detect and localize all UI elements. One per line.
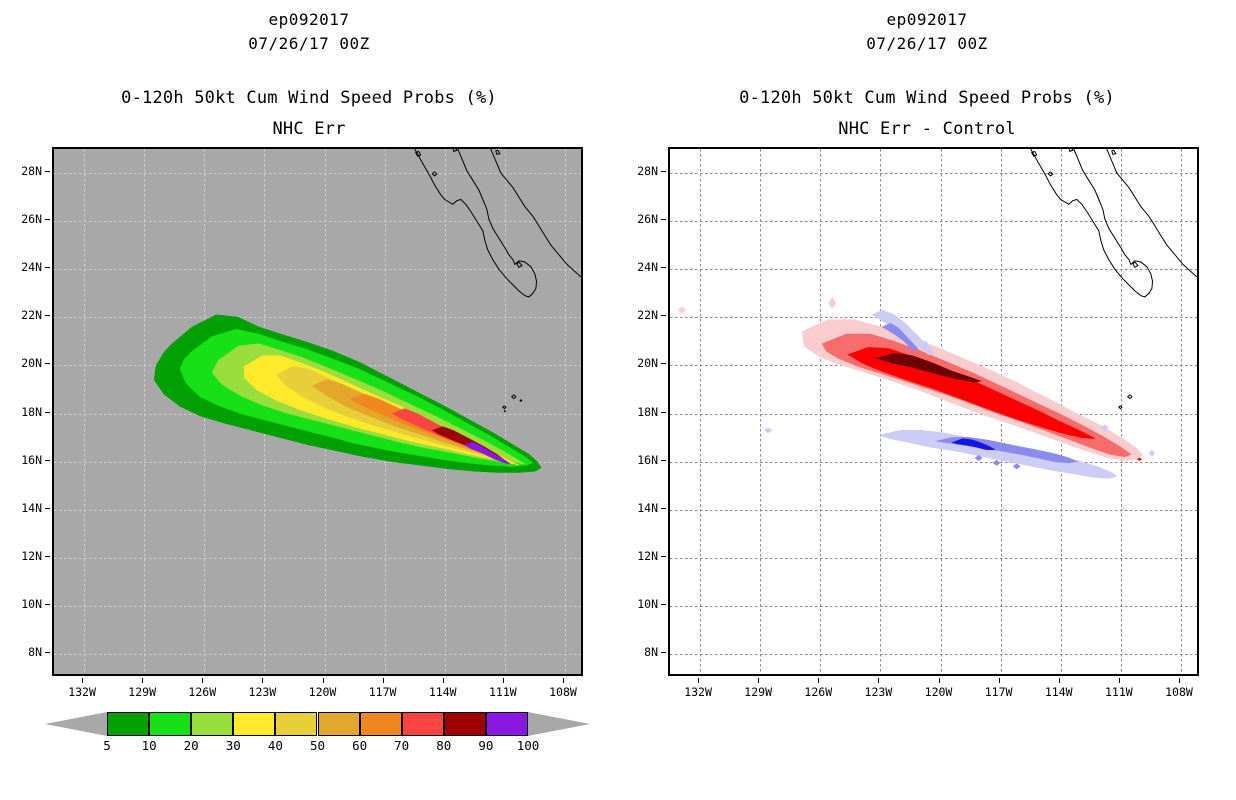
y-tick (45, 363, 50, 364)
x-tick (563, 678, 564, 683)
y-axis-label: 10N (10, 597, 42, 611)
coastline (1112, 150, 1116, 154)
y-axis-label: 8N (10, 645, 42, 659)
y-tick (661, 363, 666, 364)
colorbar-tick-label: 100 (517, 738, 540, 753)
coastline (512, 395, 516, 399)
x-tick (939, 678, 940, 683)
x-axis-label: 111W (1105, 685, 1133, 699)
coastline (1069, 149, 1073, 151)
left-valid-time: 07/26/17 00Z (0, 34, 618, 53)
colorbar-segment (191, 712, 233, 736)
y-axis-label: 28N (626, 164, 658, 178)
colorbar-segment (318, 712, 360, 736)
panel-nhc-err: ep092017 07/26/17 00Z 0-120h 50kt Cum Wi… (0, 0, 618, 800)
colorbar-segment (107, 712, 149, 736)
panel-nhc-err-minus-control: ep092017 07/26/17 00Z 0-120h 50kt Cum Wi… (618, 0, 1236, 800)
y-axis-label: 26N (626, 212, 658, 226)
y-tick (45, 267, 50, 268)
y-axis-label: 18N (10, 405, 42, 419)
coastline (382, 149, 536, 297)
colorbar-tick-label: 70 (394, 738, 409, 753)
coastline (1032, 151, 1037, 156)
x-axis-label: 114W (429, 685, 457, 699)
y-tick (661, 219, 666, 220)
colorbar-over-arrow (528, 712, 590, 736)
x-tick (698, 678, 699, 683)
coastline (496, 150, 500, 154)
colorbar-segment (360, 712, 402, 736)
y-axis-label: 28N (10, 164, 42, 178)
y-axis-label: 20N (10, 356, 42, 370)
x-axis-label: 111W (489, 685, 517, 699)
colorbar-tick-label: 80 (436, 738, 451, 753)
x-axis-label: 132W (684, 685, 712, 699)
x-axis-label: 117W (985, 685, 1013, 699)
coastline (1043, 149, 1199, 327)
y-tick (45, 412, 50, 413)
right-storm-id: ep092017 (618, 10, 1236, 29)
x-tick (443, 678, 444, 683)
y-axis-label: 26N (10, 212, 42, 226)
y-tick (45, 315, 50, 316)
left-chart-subtitle: NHC Err (0, 119, 618, 139)
x-tick (202, 678, 203, 683)
map-frame-right (668, 147, 1199, 676)
y-tick (661, 267, 666, 268)
x-axis-label: 126W (804, 685, 832, 699)
colorbar-tick-label: 10 (142, 738, 157, 753)
coastline (453, 149, 457, 151)
y-tick (661, 652, 666, 653)
x-tick (1059, 678, 1060, 683)
y-axis-label: 18N (626, 405, 658, 419)
x-tick (383, 678, 384, 683)
right-valid-time: 07/26/17 00Z (618, 34, 1236, 53)
y-axis-label: 22N (10, 308, 42, 322)
colorbar-segment (486, 712, 528, 736)
y-axis-label: 14N (10, 501, 42, 515)
x-tick (878, 678, 879, 683)
colorbar-under-arrow (45, 712, 107, 736)
x-axis-label: 123W (249, 685, 277, 699)
y-tick (45, 556, 50, 557)
map-left[interactable]: 132W129W126W123W120W117W114W111W108W28N2… (52, 147, 583, 676)
y-tick (45, 171, 50, 172)
y-axis-label: 24N (10, 260, 42, 274)
right-chart-subtitle: NHC Err - Control (618, 119, 1236, 139)
coastline (416, 151, 421, 156)
y-tick (45, 652, 50, 653)
x-tick (503, 678, 504, 683)
colorbar-segment (275, 712, 317, 736)
x-tick (262, 678, 263, 683)
y-tick (661, 412, 666, 413)
coastline (432, 172, 436, 176)
left-storm-id: ep092017 (0, 10, 618, 29)
map-right[interactable]: 132W129W126W123W120W117W114W111W108W28N2… (668, 147, 1199, 676)
x-tick (758, 678, 759, 683)
y-axis-label: 20N (626, 356, 658, 370)
y-tick (661, 508, 666, 509)
x-tick (818, 678, 819, 683)
x-tick (82, 678, 83, 683)
colorbar-segment (444, 712, 486, 736)
x-axis-label: 126W (188, 685, 216, 699)
colorbar-segment (402, 712, 444, 736)
coastline (503, 406, 506, 409)
coastline (998, 149, 1152, 297)
colorbar-tick-label: 90 (478, 738, 493, 753)
colorbar-segment (233, 712, 275, 736)
map-frame-left (52, 147, 583, 676)
colorbar-probability: 5102030405060708090100 (45, 712, 590, 766)
colorbar-tick-label: 30 (226, 738, 241, 753)
coastline (1133, 262, 1138, 267)
y-tick (45, 219, 50, 220)
y-axis-label: 12N (626, 549, 658, 563)
coastline (1048, 172, 1052, 176)
x-axis-label: 114W (1045, 685, 1073, 699)
x-axis-label: 120W (925, 685, 953, 699)
y-axis-label: 10N (626, 597, 658, 611)
right-chart-title: 0-120h 50kt Cum Wind Speed Probs (%) (618, 88, 1236, 108)
y-axis-label: 24N (626, 260, 658, 274)
coastline-layer (670, 149, 1199, 676)
y-axis-label: 8N (626, 645, 658, 659)
x-axis-label: 123W (865, 685, 893, 699)
y-axis-label: 22N (626, 308, 658, 322)
y-axis-label: 12N (10, 549, 42, 563)
colorbar-tick-label: 5 (103, 738, 111, 753)
x-axis-label: 108W (549, 685, 577, 699)
x-tick (142, 678, 143, 683)
coastline (517, 262, 522, 267)
x-tick (323, 678, 324, 683)
x-tick (1179, 678, 1180, 683)
colorbar-tick-label: 60 (352, 738, 367, 753)
y-axis-label: 16N (10, 453, 42, 467)
y-tick (45, 508, 50, 509)
x-tick (999, 678, 1000, 683)
left-chart-title: 0-120h 50kt Cum Wind Speed Probs (%) (0, 88, 618, 108)
x-axis-label: 120W (309, 685, 337, 699)
x-axis-label: 129W (128, 685, 156, 699)
x-axis-label: 132W (68, 685, 96, 699)
coastline (1119, 406, 1122, 409)
x-tick (1119, 678, 1120, 683)
colorbar-tick-label: 50 (310, 738, 325, 753)
y-tick (661, 604, 666, 605)
colorbar-tick-label: 40 (268, 738, 283, 753)
x-axis-label: 108W (1165, 685, 1193, 699)
y-tick (45, 460, 50, 461)
x-axis-label: 129W (744, 685, 772, 699)
colorbar-tick-label: 20 (184, 738, 199, 753)
x-axis-label: 117W (369, 685, 397, 699)
y-tick (45, 604, 50, 605)
y-tick (661, 556, 666, 557)
y-axis-label: 16N (626, 453, 658, 467)
y-tick (661, 315, 666, 316)
y-tick (661, 460, 666, 461)
y-axis-label: 14N (626, 501, 658, 515)
y-tick (661, 171, 666, 172)
colorbar-segment (149, 712, 191, 736)
coastline (1128, 395, 1132, 399)
coastline-layer (54, 149, 583, 676)
coastline (427, 149, 583, 327)
